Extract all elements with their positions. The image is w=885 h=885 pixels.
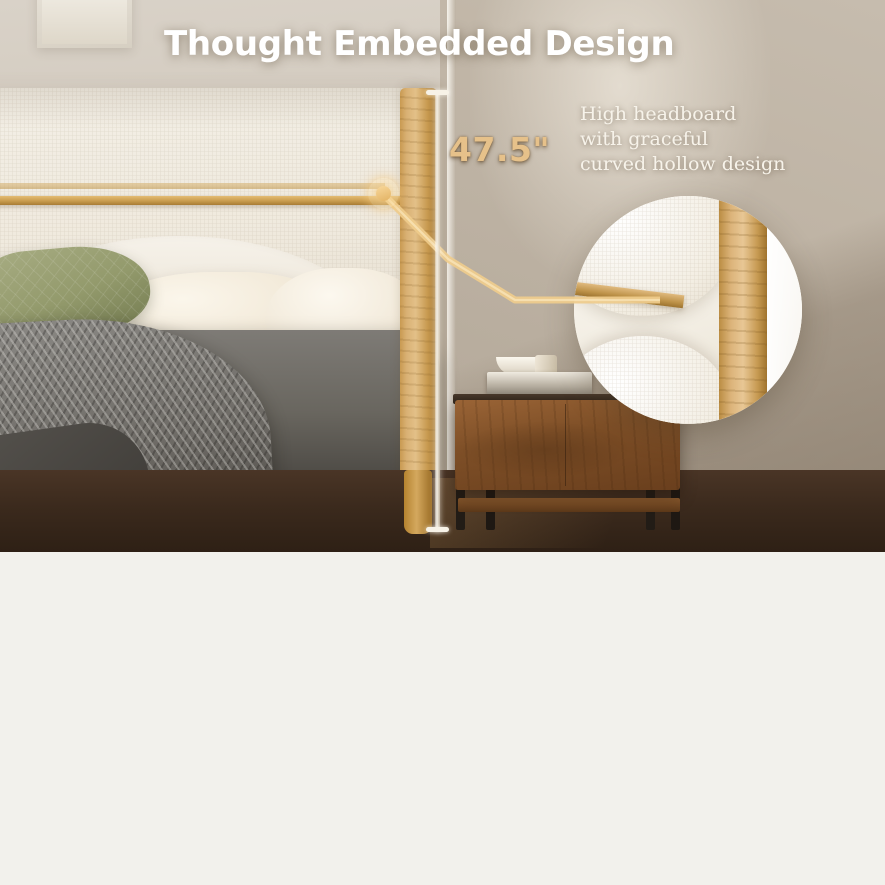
hotspot-dot-icon (376, 186, 391, 201)
dimension-line (435, 92, 440, 532)
headboard-wood-trim (0, 196, 410, 205)
annotation-line-1: High headboard (580, 102, 840, 127)
annotation-line-3: curved hollow design (580, 152, 840, 177)
zoom-wood-post (719, 196, 767, 424)
bed-leg (404, 470, 432, 534)
headboard-shadow (0, 88, 420, 128)
feature-annotation: High headboard with graceful curved holl… (580, 102, 840, 177)
comparison-panel: Embedded Design Keep Mattress in Place R… (0, 552, 885, 885)
product-infographic: 47.5" Thought Embedded Design High headb… (0, 0, 885, 885)
dimension-cap-top (426, 90, 449, 95)
dimension-cap-bottom (426, 527, 449, 532)
headboard-wood-trim-upper (0, 183, 385, 189)
wall-art-canvas (42, 0, 127, 44)
measurement-label: 47.5" (449, 130, 550, 169)
page-title: Thought Embedded Design (164, 24, 674, 64)
nightstand-lower-shelf (458, 498, 680, 512)
zoom-post-grain (719, 196, 767, 424)
annotation-line-2: with graceful (580, 127, 840, 152)
hero-photo: 47.5" Thought Embedded Design High headb… (0, 0, 885, 552)
wood-post-grain (400, 88, 437, 528)
zoom-highlight (766, 196, 802, 424)
nightstand-drawer-divider (565, 404, 566, 486)
headboard-wood-post (400, 88, 437, 528)
zoom-detail-circle (574, 196, 802, 424)
wall-art-frame (37, 0, 132, 48)
